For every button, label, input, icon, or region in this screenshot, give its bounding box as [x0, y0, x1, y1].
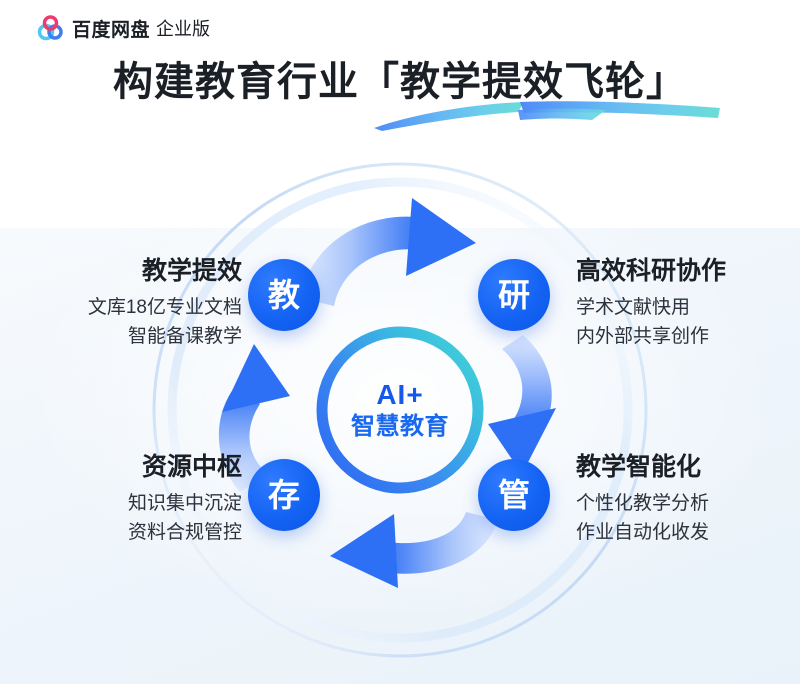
node-teach-label: 教: [268, 279, 300, 311]
node-manage-label: 管: [498, 479, 530, 511]
quadrant-top-left-line-2: 智能备课教学: [14, 322, 242, 351]
quadrant-bottom-right-line-1: 个性化教学分析: [576, 489, 800, 518]
quadrant-bottom-right-line-2: 作业自动化收发: [576, 518, 800, 547]
quadrant-bottom-left: 资源中枢 知识集中沉淀 资料合规管控: [14, 452, 242, 547]
node-store-label: 存: [268, 479, 300, 511]
quadrant-top-left: 教学提效 文库18亿专业文档 智能备课教学: [14, 256, 242, 351]
flywheel-hub: AI+ 智慧教育: [312, 322, 488, 498]
quadrant-top-right-line-1: 学术文献快用: [576, 293, 800, 322]
baidu-netdisk-logo-icon: [36, 15, 64, 41]
quadrant-top-right-title: 高效科研协作: [576, 256, 800, 287]
arrow-teach-to-research: [300, 198, 476, 306]
quadrant-top-right: 高效科研协作 学术文献快用 内外部共享创作: [576, 256, 800, 351]
hub-title: AI+: [351, 380, 449, 409]
page-title-container: 构建教育行业「教学提效飞轮」: [0, 58, 800, 136]
quadrant-top-left-line-1: 文库18亿专业文档: [14, 293, 242, 322]
node-store[interactable]: 存: [248, 459, 320, 531]
node-research[interactable]: 研: [478, 259, 550, 331]
quadrant-bottom-left-line-2: 资料合规管控: [14, 518, 242, 547]
quadrant-bottom-right-title: 教学智能化: [576, 452, 800, 483]
arrow-manage-to-store: [330, 512, 498, 588]
quadrant-top-left-title: 教学提效: [14, 256, 242, 287]
brand-edition: 企业版: [156, 15, 210, 41]
brand-header: 百度网盘 企业版: [0, 0, 800, 56]
quadrant-bottom-left-title: 资源中枢: [14, 452, 242, 483]
node-teach[interactable]: 教: [248, 259, 320, 331]
quadrant-bottom-left-line-1: 知识集中沉淀: [14, 489, 242, 518]
quadrant-bottom-right: 教学智能化 个性化教学分析 作业自动化收发: [576, 452, 800, 547]
arrow-research-to-manage: [488, 335, 556, 474]
node-manage[interactable]: 管: [478, 459, 550, 531]
node-research-label: 研: [498, 279, 530, 311]
brand-name: 百度网盘: [72, 15, 150, 42]
hub-subtitle: 智慧教育: [351, 413, 449, 441]
quadrant-top-right-line-2: 内外部共享创作: [576, 322, 800, 351]
page-title: 构建教育行业「教学提效飞轮」: [113, 58, 687, 106]
